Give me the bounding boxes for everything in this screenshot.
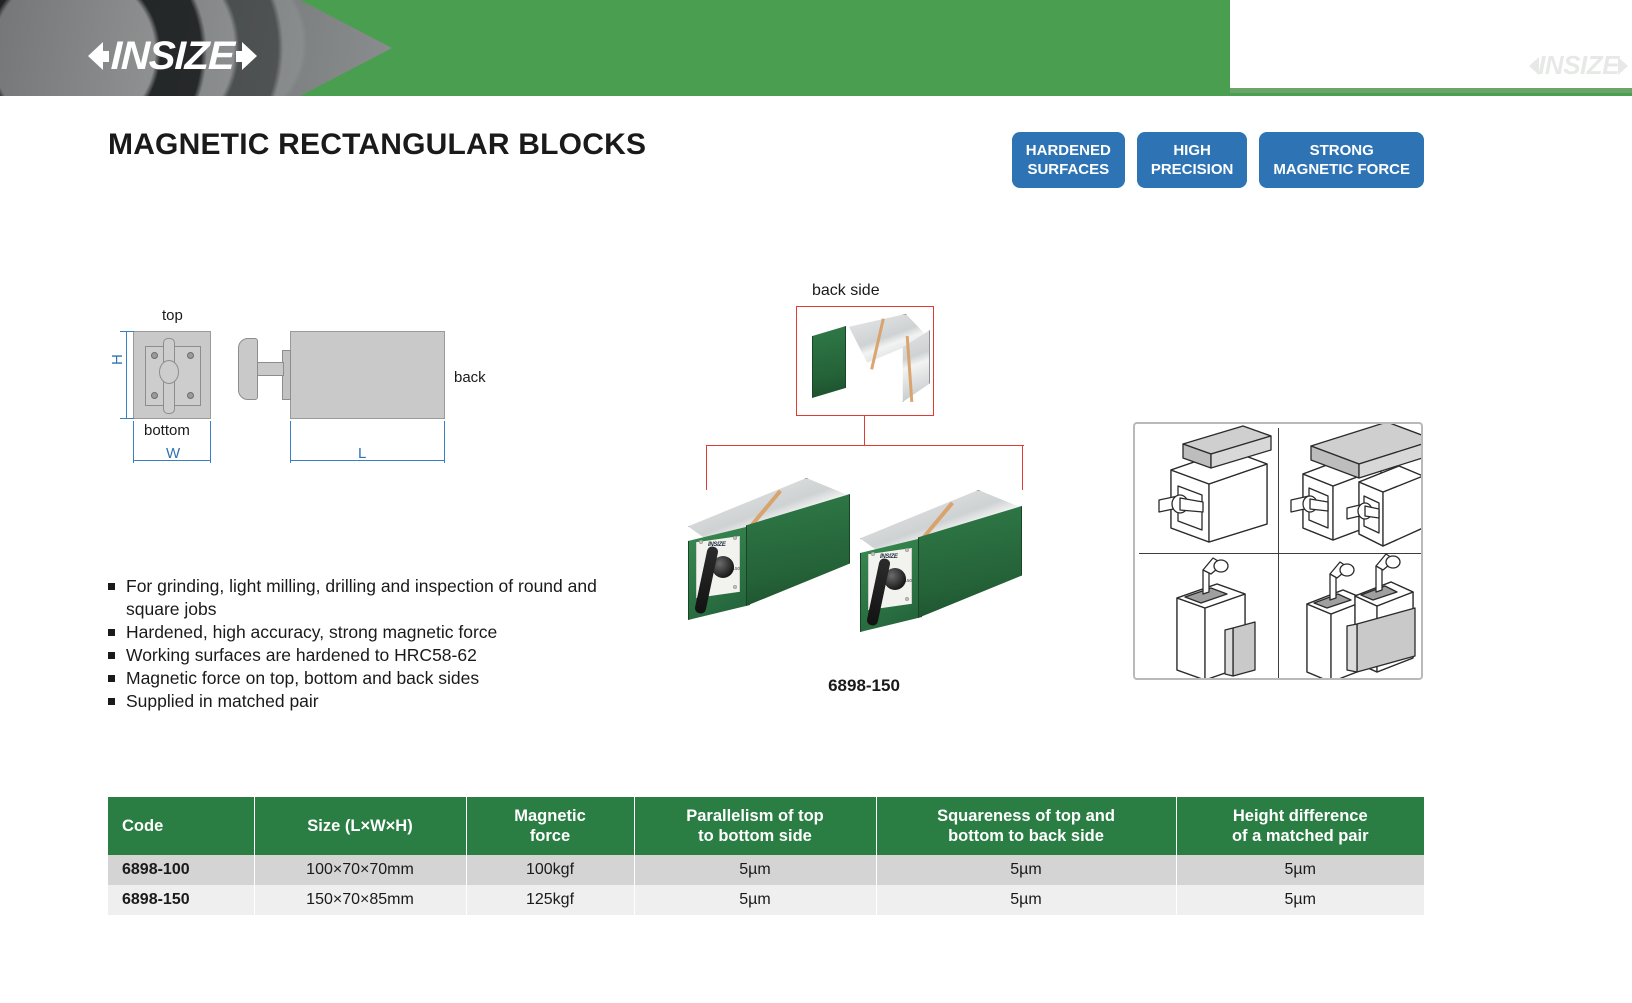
list-item: Hardened, high accuracy, strong magnetic… [108,621,628,644]
drawing-label-top: top [162,307,183,324]
cell-parallelism: 5µm [634,885,876,915]
cell-squareness: 5µm [876,855,1176,885]
column-header-size: Size (L×W×H) [254,797,466,855]
column-header-parallelism: Parallelism of top to bottom side [634,797,876,855]
drawing-screw-icon [187,352,194,359]
feature-list: For grinding, light milling, drilling an… [108,575,628,713]
feature-text: For grinding, light milling, drilling an… [126,575,628,621]
watermark-right-arrow-icon [1618,57,1628,75]
badge-high-precision: HIGH PRECISION [1137,132,1248,188]
drawing-knob-head [238,338,258,400]
product-block-right: INSIZE 6898-150 [860,486,1034,638]
plate-screw-icon [733,536,737,540]
dimension-tick [120,331,134,332]
drawing-handle-bulge [159,360,179,384]
specification-table: Code Size (L×W×H) Magnetic force Paralle… [108,797,1424,915]
logo-right-arrow-icon [242,42,257,70]
watermark-wordmark: INSIZE [1538,50,1619,81]
cell-magnetic-force: 125kgf [466,885,634,915]
drawing-side-view [290,331,445,419]
column-header-squareness: Squareness of top and bottom to back sid… [876,797,1176,855]
column-header-magnetic-force: Magnetic force [466,797,634,855]
header-green-rule [1230,88,1632,93]
callout-connector-stem [864,416,865,446]
dimension-line-width [133,460,211,461]
drawing-knob-stem [254,362,284,376]
bullet-square-icon [108,698,115,705]
column-header-height-difference: Height difference of a matched pair [1176,797,1424,855]
cell-parallelism: 5µm [634,855,876,885]
feature-badges: HARDENED SURFACES HIGH PRECISION STRONG … [1012,132,1424,188]
application-diagram [1133,422,1423,680]
dimension-extension [210,421,211,463]
cell-height-difference: 5µm [1176,855,1424,885]
bullet-square-icon [108,629,115,636]
table-header-row: Code Size (L×W×H) Magnetic force Paralle… [108,797,1424,855]
list-item: Supplied in matched pair [108,690,628,713]
table-row: 6898-100 100×70×70mm 100kgf 5µm 5µm 5µm [108,855,1424,885]
bullet-square-icon [108,583,115,590]
feature-text: Working surfaces are hardened to HRC58-6… [126,644,628,667]
plate-screw-icon [699,540,703,544]
logo-left-bar [101,51,109,62]
dimension-extension [133,421,134,463]
list-item: Magnetic force on top, bottom and back s… [108,667,628,690]
product-photo-group: back side INSIZE 6898-150 [660,278,1010,698]
table-row: 6898-150 150×70×85mm 125kgf 5µm 5µm 5µm [108,885,1424,915]
column-header-code: Code [108,797,254,855]
cell-size: 100×70×70mm [254,855,466,885]
page-header: INSIZE INSIZE [0,0,1632,96]
drawing-front-view [133,331,211,419]
list-item: For grinding, light milling, drilling an… [108,575,628,621]
page-title: MAGNETIC RECTANGULAR BLOCKS [108,128,646,162]
plate-screw-icon [905,548,909,552]
drawing-screw-icon [151,352,158,359]
bullet-square-icon [108,675,115,682]
insize-watermark: INSIZE [1529,50,1628,81]
drawing-dim-height: H [109,354,126,365]
block-left-face [812,326,846,398]
diagram-illustrations [1135,424,1421,678]
cell-height-difference: 5µm [1176,885,1424,915]
product-block-left: INSIZE 6898-150 [688,474,862,626]
dimension-extension [290,421,291,463]
insize-logo: INSIZE [88,36,257,76]
dimension-line-height [126,331,127,419]
plate-screw-icon [871,552,875,556]
badge-strong-magnetic-force: STRONG MAGNETIC FORCE [1259,132,1424,188]
badge-hardened-surfaces: HARDENED SURFACES [1012,132,1125,188]
feature-text: Supplied in matched pair [126,690,628,713]
dimension-extension [444,421,445,463]
callout-connector-bar [706,445,1024,446]
drawing-screw-icon [151,392,158,399]
feature-text: Magnetic force on top, bottom and back s… [126,667,628,690]
cell-code: 6898-150 [108,885,254,915]
cell-magnetic-force: 100kgf [466,855,634,885]
cell-code: 6898-100 [108,855,254,885]
catalog-page: INSIZE INSIZE MAGNETIC RECTANGULAR BLOCK… [0,0,1632,1003]
callout-connector-right [1022,445,1023,490]
plate-screw-icon [733,585,737,589]
cell-size: 150×70×85mm [254,885,466,915]
feature-text: Hardened, high accuracy, strong magnetic… [126,621,628,644]
product-model-caption: 6898-150 [764,676,964,696]
backside-callout-label: back side [812,282,880,300]
drawing-screw-icon [187,392,194,399]
logo-wordmark: INSIZE [108,36,236,76]
dimension-line-length [290,460,445,461]
drawing-label-back: back [454,369,486,386]
dimension-tick [120,418,134,419]
list-item: Working surfaces are hardened to HRC58-6… [108,644,628,667]
cell-squareness: 5µm [876,885,1176,915]
plate-screw-icon [905,597,909,601]
technical-drawing: top bottom H W L back [104,305,524,485]
bullet-square-icon [108,652,115,659]
drawing-label-bottom: bottom [144,422,190,439]
product-block-backside [812,314,926,410]
